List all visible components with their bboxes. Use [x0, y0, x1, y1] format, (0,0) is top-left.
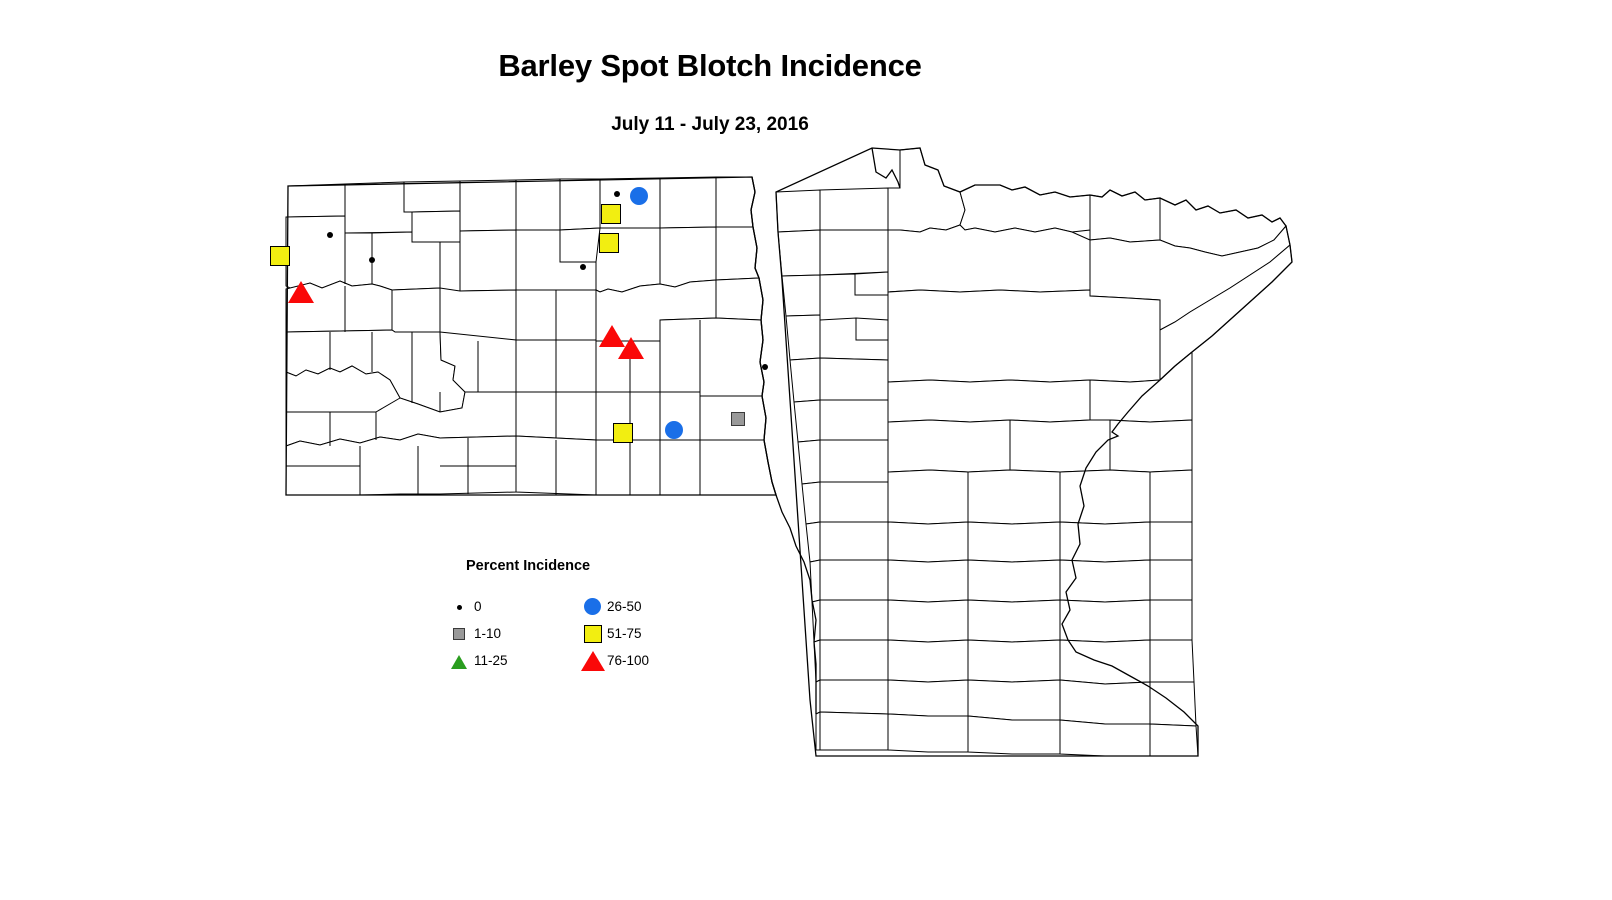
small-black-dot-icon — [369, 257, 375, 263]
legend-label-51-75: 51-75 — [607, 626, 642, 641]
lake-of-the-woods-detail — [872, 148, 900, 188]
blue-circle-icon — [630, 187, 648, 205]
minnesota-counties — [776, 148, 1292, 756]
small-black-dot-icon — [762, 364, 768, 370]
yellow-square-icon — [270, 246, 290, 266]
legend-label-76-100: 76-100 — [607, 653, 649, 668]
red-triangle-icon — [581, 650, 607, 672]
legend: Percent Incidence 0 1-10 11-25 — [448, 552, 708, 687]
red-triangle-icon — [618, 337, 644, 359]
map-svg — [0, 0, 1612, 900]
gray-square-icon — [731, 412, 745, 426]
legend-label-11-25: 11-25 — [474, 653, 508, 668]
gray-square-icon — [448, 623, 474, 645]
blue-circle-icon — [665, 421, 683, 439]
legend-label-1-10: 1-10 — [474, 626, 501, 641]
legend-label-26-50: 26-50 — [607, 599, 642, 614]
small-black-dot-icon — [327, 232, 333, 238]
yellow-square-icon — [601, 204, 621, 224]
yellow-square-icon — [581, 623, 607, 645]
green-triangle-icon — [448, 650, 474, 672]
small-black-dot-icon — [614, 191, 620, 197]
red-triangle-icon — [288, 281, 314, 303]
small-black-dot-icon — [580, 264, 586, 270]
legend-label-0: 0 — [474, 599, 482, 614]
legend-title: Percent Incidence — [466, 558, 590, 574]
yellow-square-icon — [599, 233, 619, 253]
map-canvas — [0, 0, 1612, 900]
north-dakota-counties — [286, 177, 776, 495]
map-page: Barley Spot Blotch Incidence July 11 - J… — [0, 0, 1612, 900]
small-black-dot-icon — [448, 596, 474, 618]
blue-circle-icon — [581, 596, 607, 618]
yellow-square-icon — [613, 423, 633, 443]
